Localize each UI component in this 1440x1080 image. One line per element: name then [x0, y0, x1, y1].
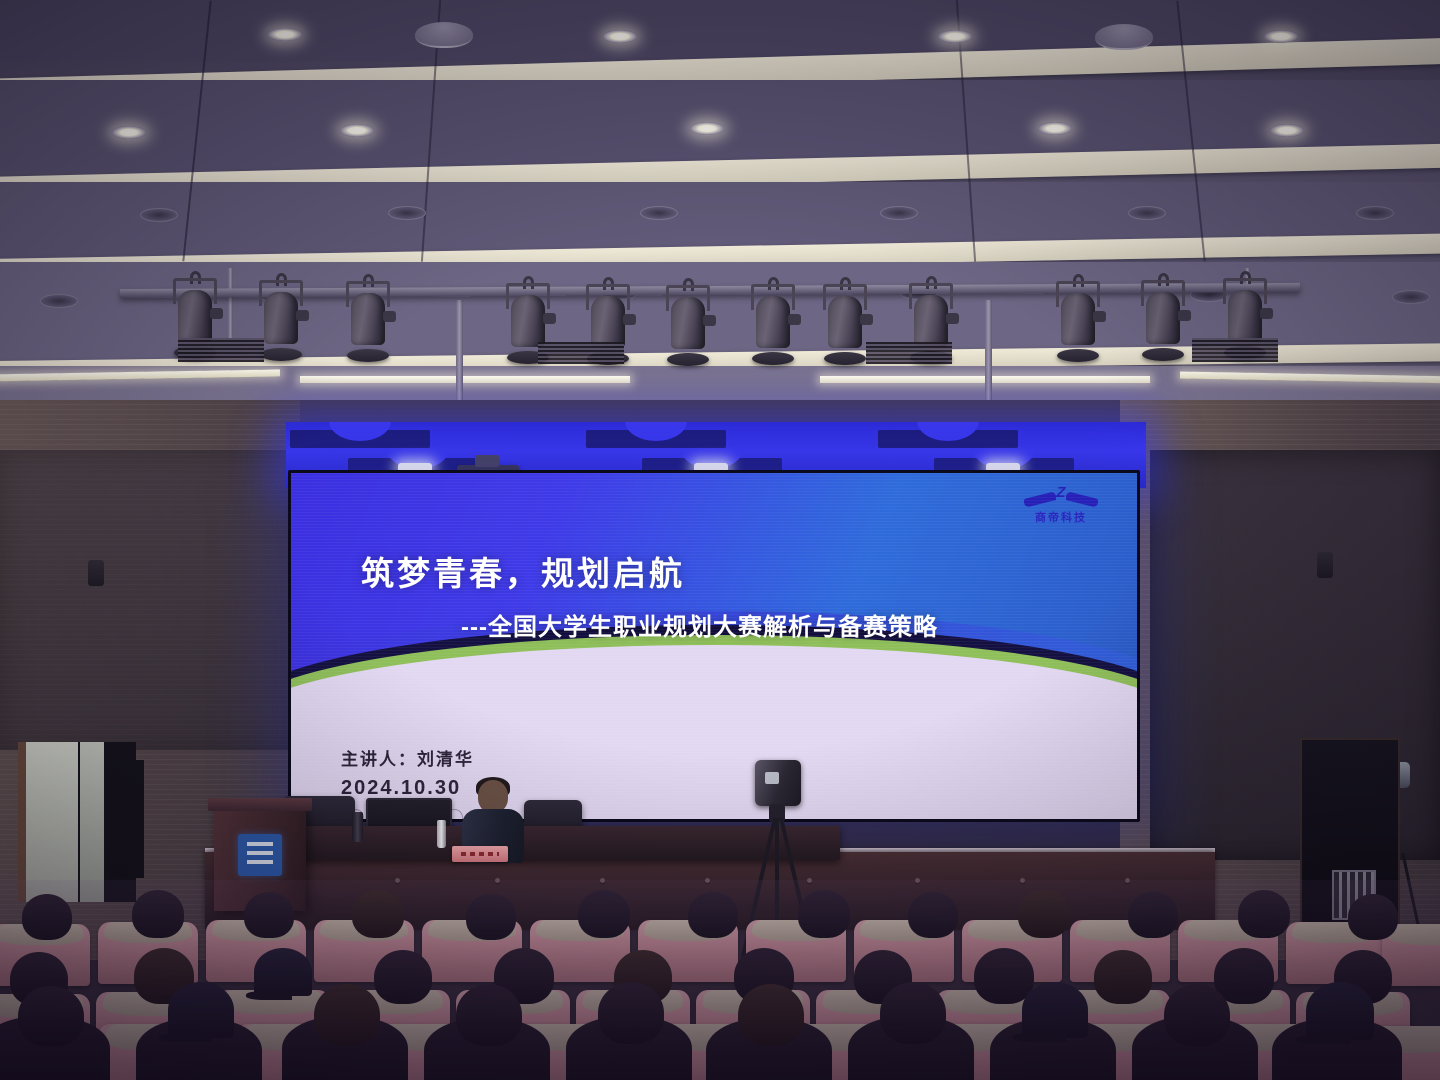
stage-spotlight	[665, 285, 711, 363]
ceiling-vent	[40, 294, 78, 308]
stage-spotlight	[1140, 280, 1186, 358]
audience-head	[908, 892, 958, 938]
audience-head	[374, 950, 432, 1004]
audience-head	[352, 890, 404, 938]
audience-head	[244, 892, 294, 938]
lectern-top	[208, 798, 312, 811]
downlight	[340, 124, 374, 137]
wall-vent-grille	[538, 342, 624, 364]
ceiling-dome-fixture	[1095, 24, 1153, 50]
ceiling-vent	[880, 206, 918, 220]
audience-head	[18, 986, 84, 1046]
audience-head	[1348, 894, 1398, 940]
open-book-logo-icon: Z	[1024, 489, 1098, 507]
slide-subtitle: ---全国大学生职业规划大赛解析与备赛策略	[461, 607, 938, 642]
stage-spotlight	[822, 284, 868, 362]
wave-panel	[586, 430, 726, 448]
logo-z-mark: Z	[1056, 485, 1065, 500]
downlight	[1270, 124, 1304, 137]
audience-head	[314, 984, 380, 1046]
led-screen: 筑梦青春，规划启航 ---全国大学生职业规划大赛解析与备赛策略 Z 商帝科技 主…	[288, 470, 1140, 822]
audience-head	[456, 984, 522, 1046]
downlight	[1264, 30, 1298, 43]
audience-head	[798, 890, 850, 938]
ceiling-vent	[1356, 206, 1394, 220]
water-bottle	[437, 820, 446, 848]
ceiling-light-strip	[300, 376, 630, 383]
audience-head	[1094, 950, 1152, 1004]
left-door[interactable]	[18, 742, 136, 902]
stage-spotlight	[258, 280, 304, 358]
auditorium-photo: 筑梦青春，规划启航 ---全国大学生职业规划大赛解析与备赛策略 Z 商帝科技 主…	[0, 0, 1440, 1080]
stage-spotlight	[1055, 281, 1101, 359]
speaker-nameplate	[452, 846, 508, 862]
wall-vent-grille	[178, 338, 264, 362]
wave-panel	[290, 430, 430, 448]
audience-head	[132, 890, 184, 938]
audience-head	[466, 894, 516, 940]
slide-title: 筑梦青春，规划启航	[361, 547, 685, 595]
slide-date: 2024.10.30	[341, 777, 461, 800]
stage-spotlight	[750, 284, 796, 362]
audience-head	[1164, 984, 1230, 1046]
slide-logo: Z 商帝科技	[1013, 485, 1109, 529]
audience-cap	[1306, 982, 1374, 1040]
video-camera-icon	[755, 760, 801, 806]
slide-presenter: 主讲人：刘清华	[341, 745, 474, 770]
downlight	[690, 122, 724, 135]
wall-vent-grille	[866, 342, 952, 364]
audience-head	[880, 982, 946, 1044]
ceiling-vent	[140, 208, 178, 222]
audience-head	[688, 892, 738, 938]
ceiling-vent	[1128, 206, 1166, 220]
ceiling-vent	[388, 206, 426, 220]
downlight	[112, 126, 146, 139]
audience-head	[974, 948, 1034, 1004]
hanging-rod	[228, 268, 233, 338]
wall-vent-grille	[1192, 338, 1278, 362]
ceiling	[0, 0, 1440, 430]
audience-head	[578, 890, 630, 938]
audience-cap	[168, 982, 234, 1038]
audience-head	[1238, 890, 1290, 938]
slide-surface: 筑梦青春，规划启航 ---全国大学生职业规划大赛解析与备赛策略 Z 商帝科技 主…	[291, 473, 1137, 819]
wall-sconce-icon	[1317, 552, 1333, 578]
downlight	[603, 30, 637, 43]
left-dark-wall-panel	[0, 450, 300, 750]
ceiling-vent	[1392, 290, 1430, 304]
audience-head	[738, 984, 804, 1046]
lectern-emblem-icon	[238, 834, 282, 876]
audience-cap	[254, 948, 312, 996]
downlight	[938, 30, 972, 43]
audience-head	[22, 894, 72, 940]
wave-panel	[878, 430, 1018, 448]
wall-sconce-icon	[88, 560, 104, 586]
audience-head	[598, 982, 664, 1044]
audience-cap	[1022, 982, 1088, 1038]
ceiling-vent	[640, 206, 678, 220]
audience-seating	[0, 890, 1440, 1080]
audience-head	[1128, 892, 1178, 938]
downlight	[1038, 122, 1072, 135]
audience-head	[1018, 890, 1070, 938]
thermos	[352, 812, 363, 842]
stage-spotlight	[345, 281, 391, 359]
slide-logo-text: 商帝科技	[1035, 509, 1087, 525]
ceiling-dome-fixture	[415, 22, 473, 48]
downlight	[268, 28, 302, 41]
